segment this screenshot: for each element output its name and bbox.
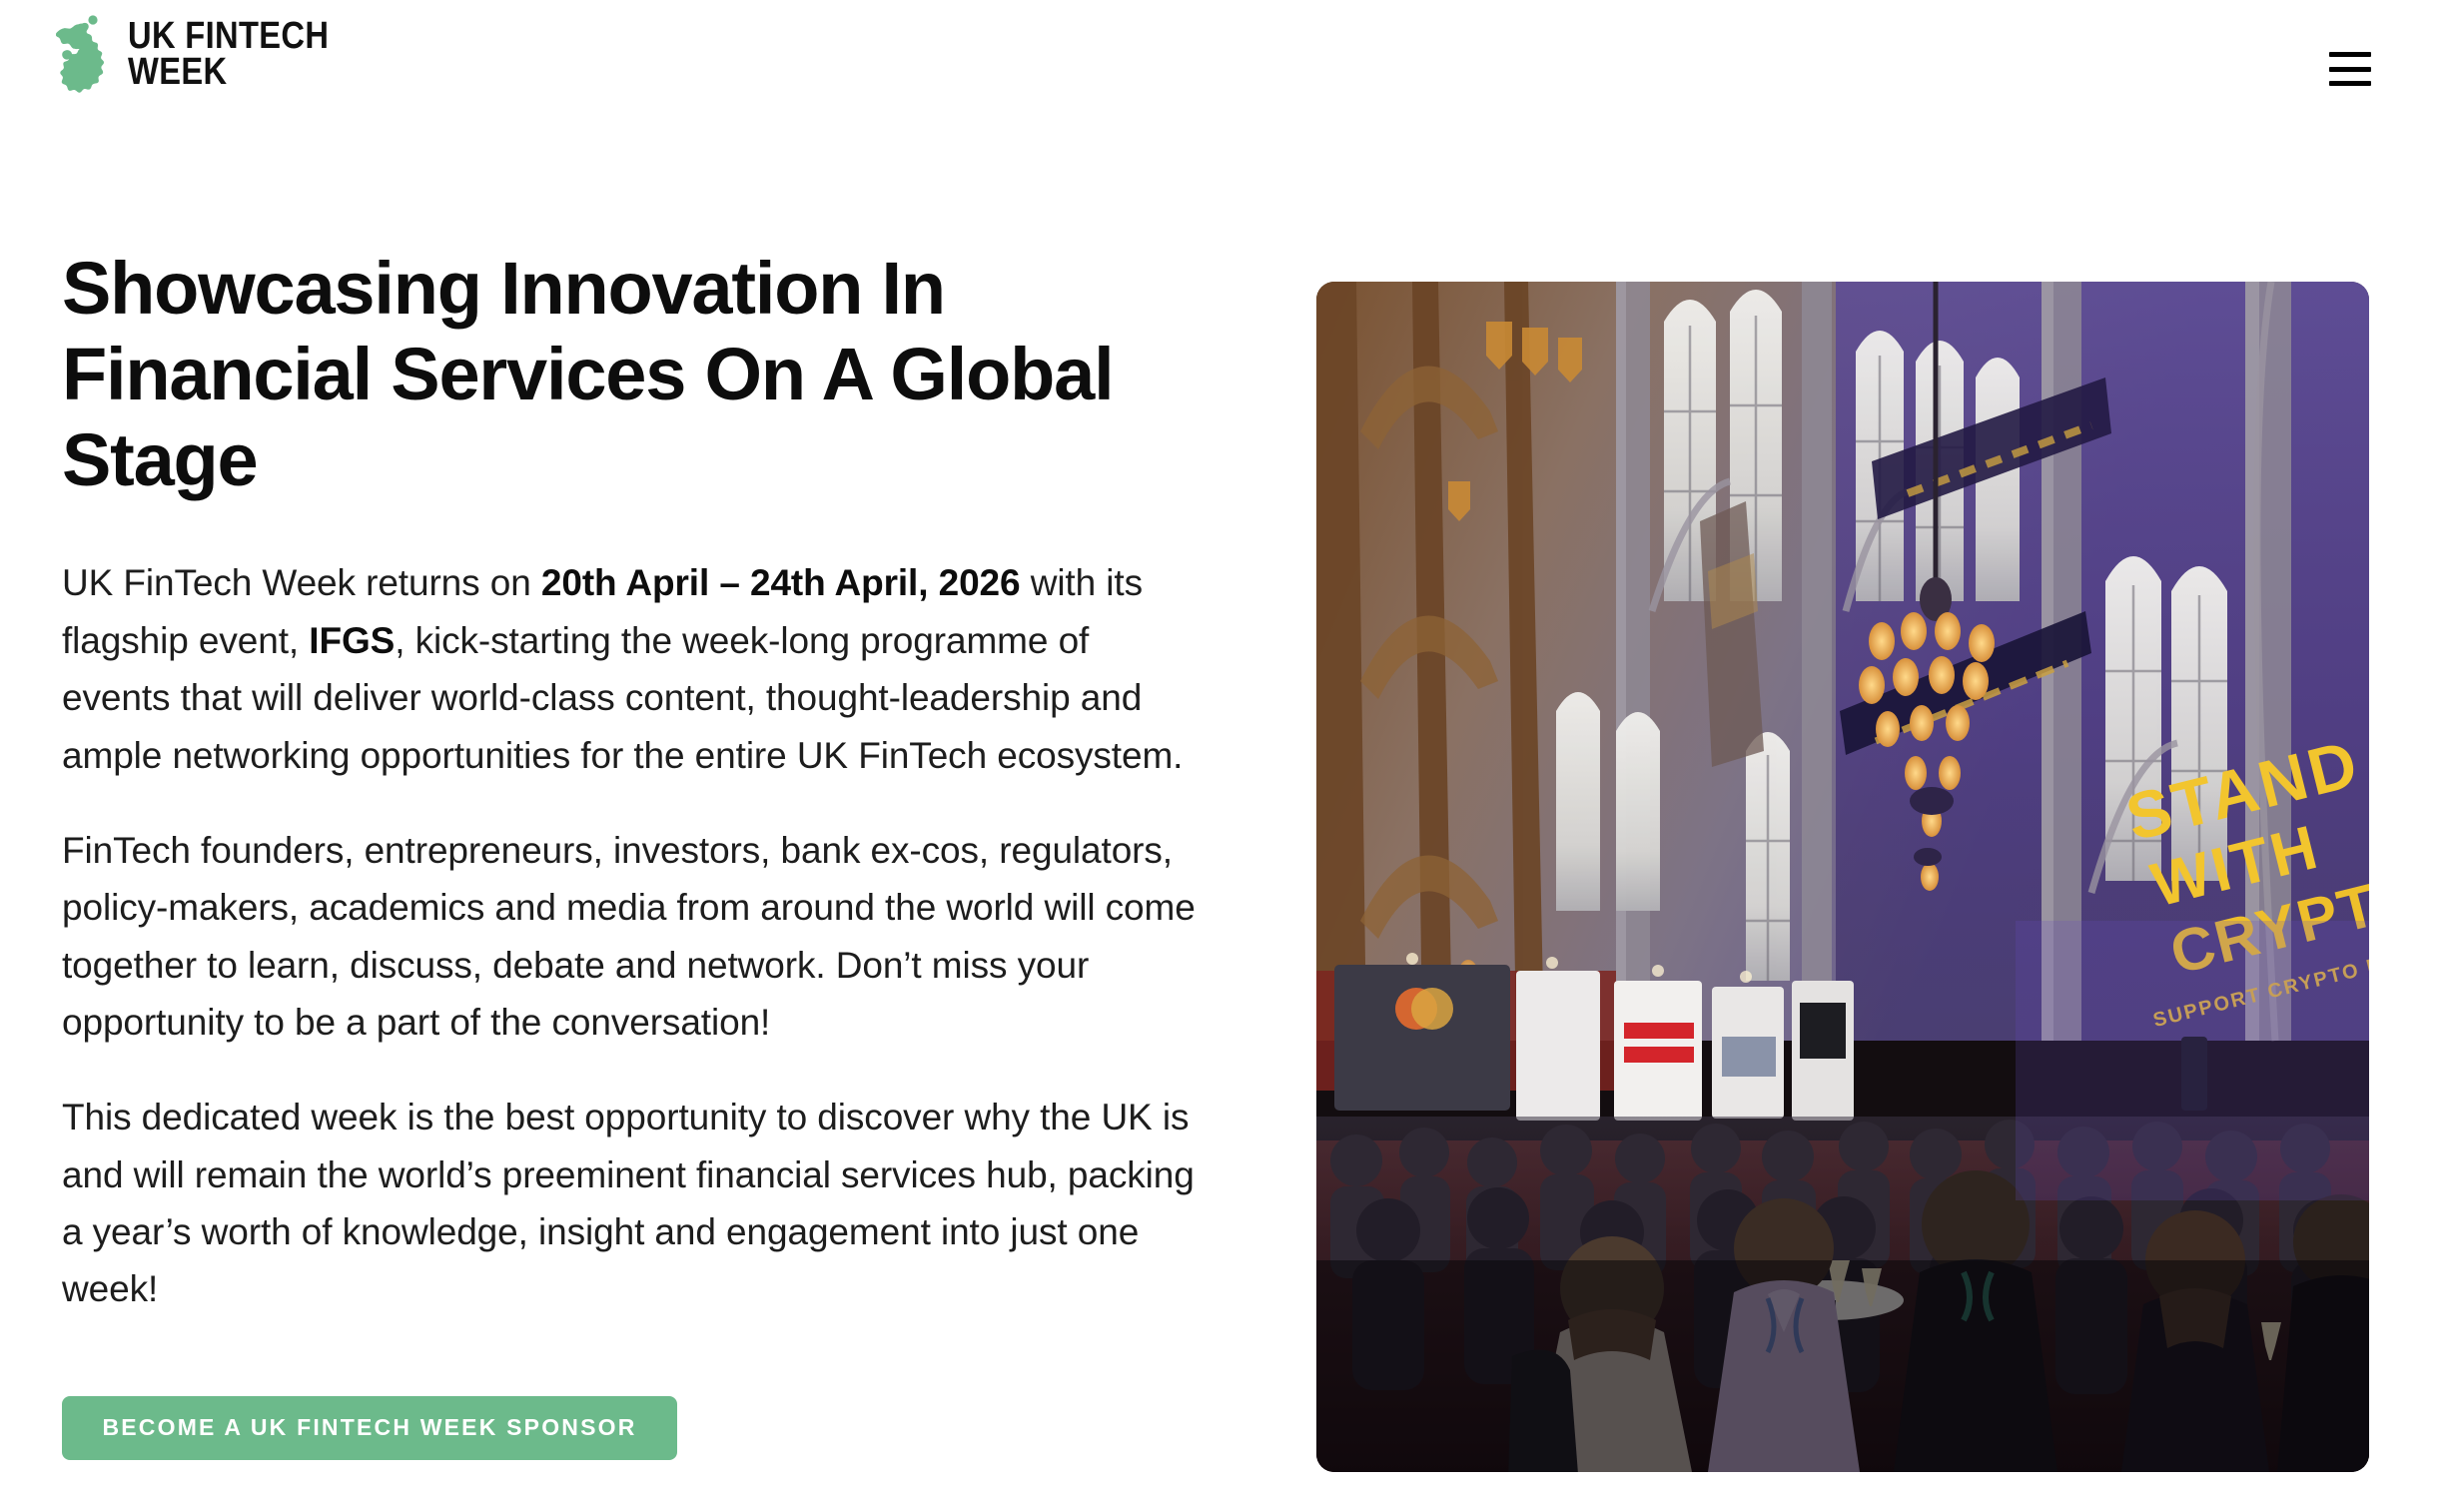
hamburger-bar-bottom <box>2329 81 2371 86</box>
become-sponsor-button[interactable]: Become A UK FinTech Week Sponsor <box>62 1396 677 1460</box>
site-header: UK FINTECH WEEK <box>0 0 2455 150</box>
uk-map-icon <box>56 14 112 96</box>
emphasis-text: 20th April – 24th April, 2026 <box>541 562 1021 603</box>
brand-line-two: WEEK <box>128 55 329 91</box>
hamburger-bar-top <box>2329 52 2371 57</box>
hero-media-column: STAND WITH CRYPTO SUPPORT CRYPTO IN THE … <box>1316 282 2369 1472</box>
hero-paragraph: UK FinTech Week returns on 20th April – … <box>62 554 1201 783</box>
hero-body-copy: UK FinTech Week returns on 20th April – … <box>62 502 1240 1317</box>
brand-line-one: UK FINTECH <box>128 19 329 55</box>
guildhall-reception-photo: STAND WITH CRYPTO SUPPORT CRYPTO IN THE … <box>1316 282 2369 1472</box>
hamburger-bar-middle <box>2329 67 2371 72</box>
body-text: UK FinTech Week returns on <box>62 562 541 603</box>
body-text: FinTech founders, entrepreneurs, investo… <box>62 830 1196 1043</box>
body-text: This dedicated week is the best opportun… <box>62 1097 1195 1309</box>
hero-paragraph: This dedicated week is the best opportun… <box>62 1089 1201 1317</box>
brand-wordmark: UK FINTECH WEEK <box>128 19 362 90</box>
emphasis-text: IFGS <box>309 620 395 661</box>
brand-logo-link[interactable]: UK FINTECH WEEK <box>56 14 362 96</box>
hero-section: Showcasing Innovation In Financial Servi… <box>0 150 2455 1512</box>
hero-paragraph: FinTech founders, entrepreneurs, investo… <box>62 822 1201 1051</box>
hero-text-column: Showcasing Innovation In Financial Servi… <box>62 150 1240 1460</box>
hamburger-menu-icon[interactable] <box>2329 52 2371 86</box>
page-title: Showcasing Innovation In Financial Servi… <box>62 150 1181 502</box>
